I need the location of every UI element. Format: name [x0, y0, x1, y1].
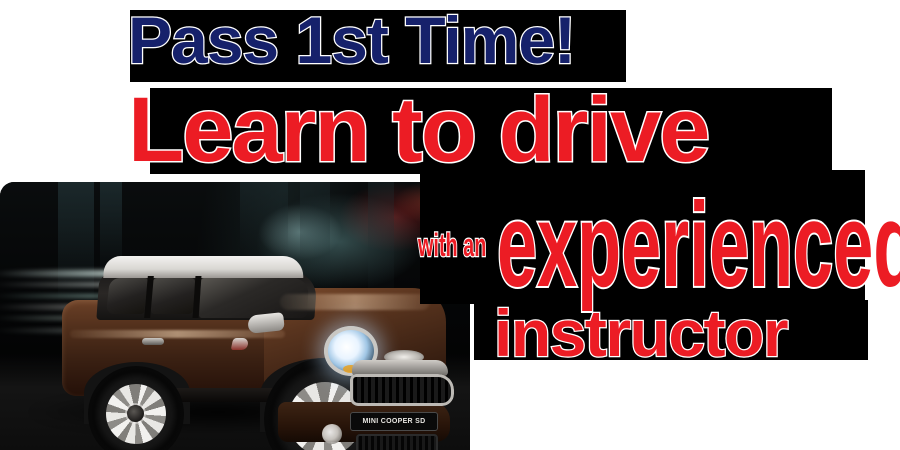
front-grille	[350, 374, 454, 406]
headline-learn-to-drive: Learn to drive	[128, 84, 708, 176]
rear-door-window	[151, 278, 196, 314]
mini-cooper-car: MINI COOPER SD	[52, 238, 452, 428]
headline-experienced: experienced	[497, 185, 900, 305]
headline-with-an: with an	[418, 229, 486, 261]
driving-school-banner: MINI COOPER SD Pass 1st Time! Learn to d…	[0, 0, 900, 450]
wing-mirror	[247, 312, 285, 334]
side-skirt	[172, 388, 282, 402]
fog-light	[322, 424, 342, 444]
rear-quarter-window	[106, 278, 148, 314]
bonnet-highlight	[280, 294, 430, 310]
headline-instructor: instructor	[494, 300, 787, 366]
car-roof	[103, 256, 305, 278]
rear-wheel-hub	[127, 405, 144, 422]
car-photo: MINI COOPER SD	[0, 182, 470, 450]
number-plate: MINI COOPER SD	[350, 412, 438, 431]
door-handle	[142, 338, 164, 345]
lower-air-intake	[356, 434, 438, 450]
headline-pass-first-time: Pass 1st Time!	[128, 7, 575, 73]
